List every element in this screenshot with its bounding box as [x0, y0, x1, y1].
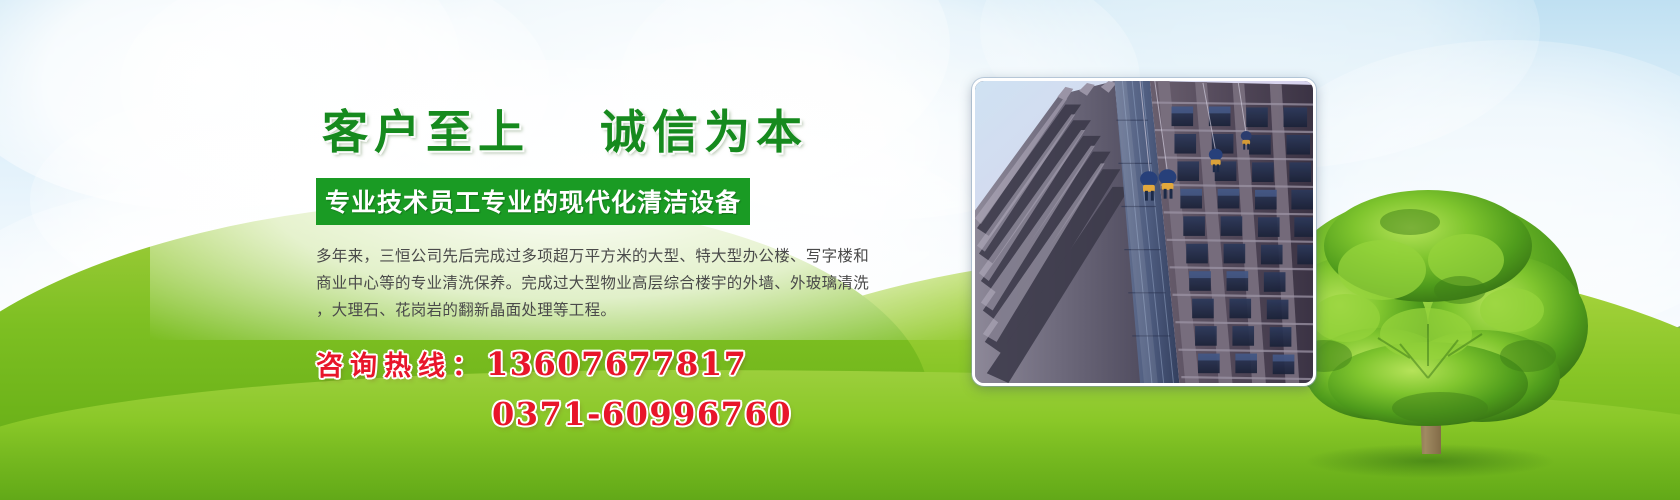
headline-right: 诚信为本 — [600, 105, 808, 159]
description-paragraph: 多年来，三恒公司先后完成过多项超万平方米的大型、特大型办公楼、写字楼和 商业中心… — [316, 243, 886, 324]
hotline-label: 咨询热线： — [316, 351, 486, 382]
promo-banner: 客户至上 诚信为本 专业技术员工专业的现代化清洁设备 多年来，三恒公司先后完成过… — [0, 0, 1680, 500]
page-title: 客户至上 诚信为本 — [322, 96, 916, 162]
primary-phone-number[interactable]: 13607677817 — [486, 345, 747, 383]
secondary-phone-row: 0371-60996760 — [316, 392, 916, 442]
paragraph-line-2: 商业中心等的专业清洗保养。完成过大型物业高层综合楼宇的外墙、外玻璃清洗 — [316, 270, 886, 297]
headline-left: 客户至上 — [322, 105, 530, 159]
secondary-phone-number[interactable]: 0371-60996760 — [492, 395, 792, 433]
banner-text-content: 客户至上 诚信为本 专业技术员工专业的现代化清洁设备 多年来，三恒公司先后完成过… — [316, 96, 916, 442]
hotline-row: 咨询热线：13607677817 — [316, 342, 916, 392]
contact-block: 咨询热线：13607677817 0371-60996760 — [316, 342, 916, 442]
paragraph-line-1: 多年来，三恒公司先后完成过多项超万平方米的大型、特大型办公楼、写字楼和 — [316, 243, 886, 270]
building-photo[interactable] — [972, 78, 1316, 386]
paragraph-line-3: ，大理石、花岗岩的翻新晶面处理等工程。 — [316, 297, 886, 324]
subtitle-bar: 专业技术员工专业的现代化清洁设备 — [316, 178, 750, 225]
